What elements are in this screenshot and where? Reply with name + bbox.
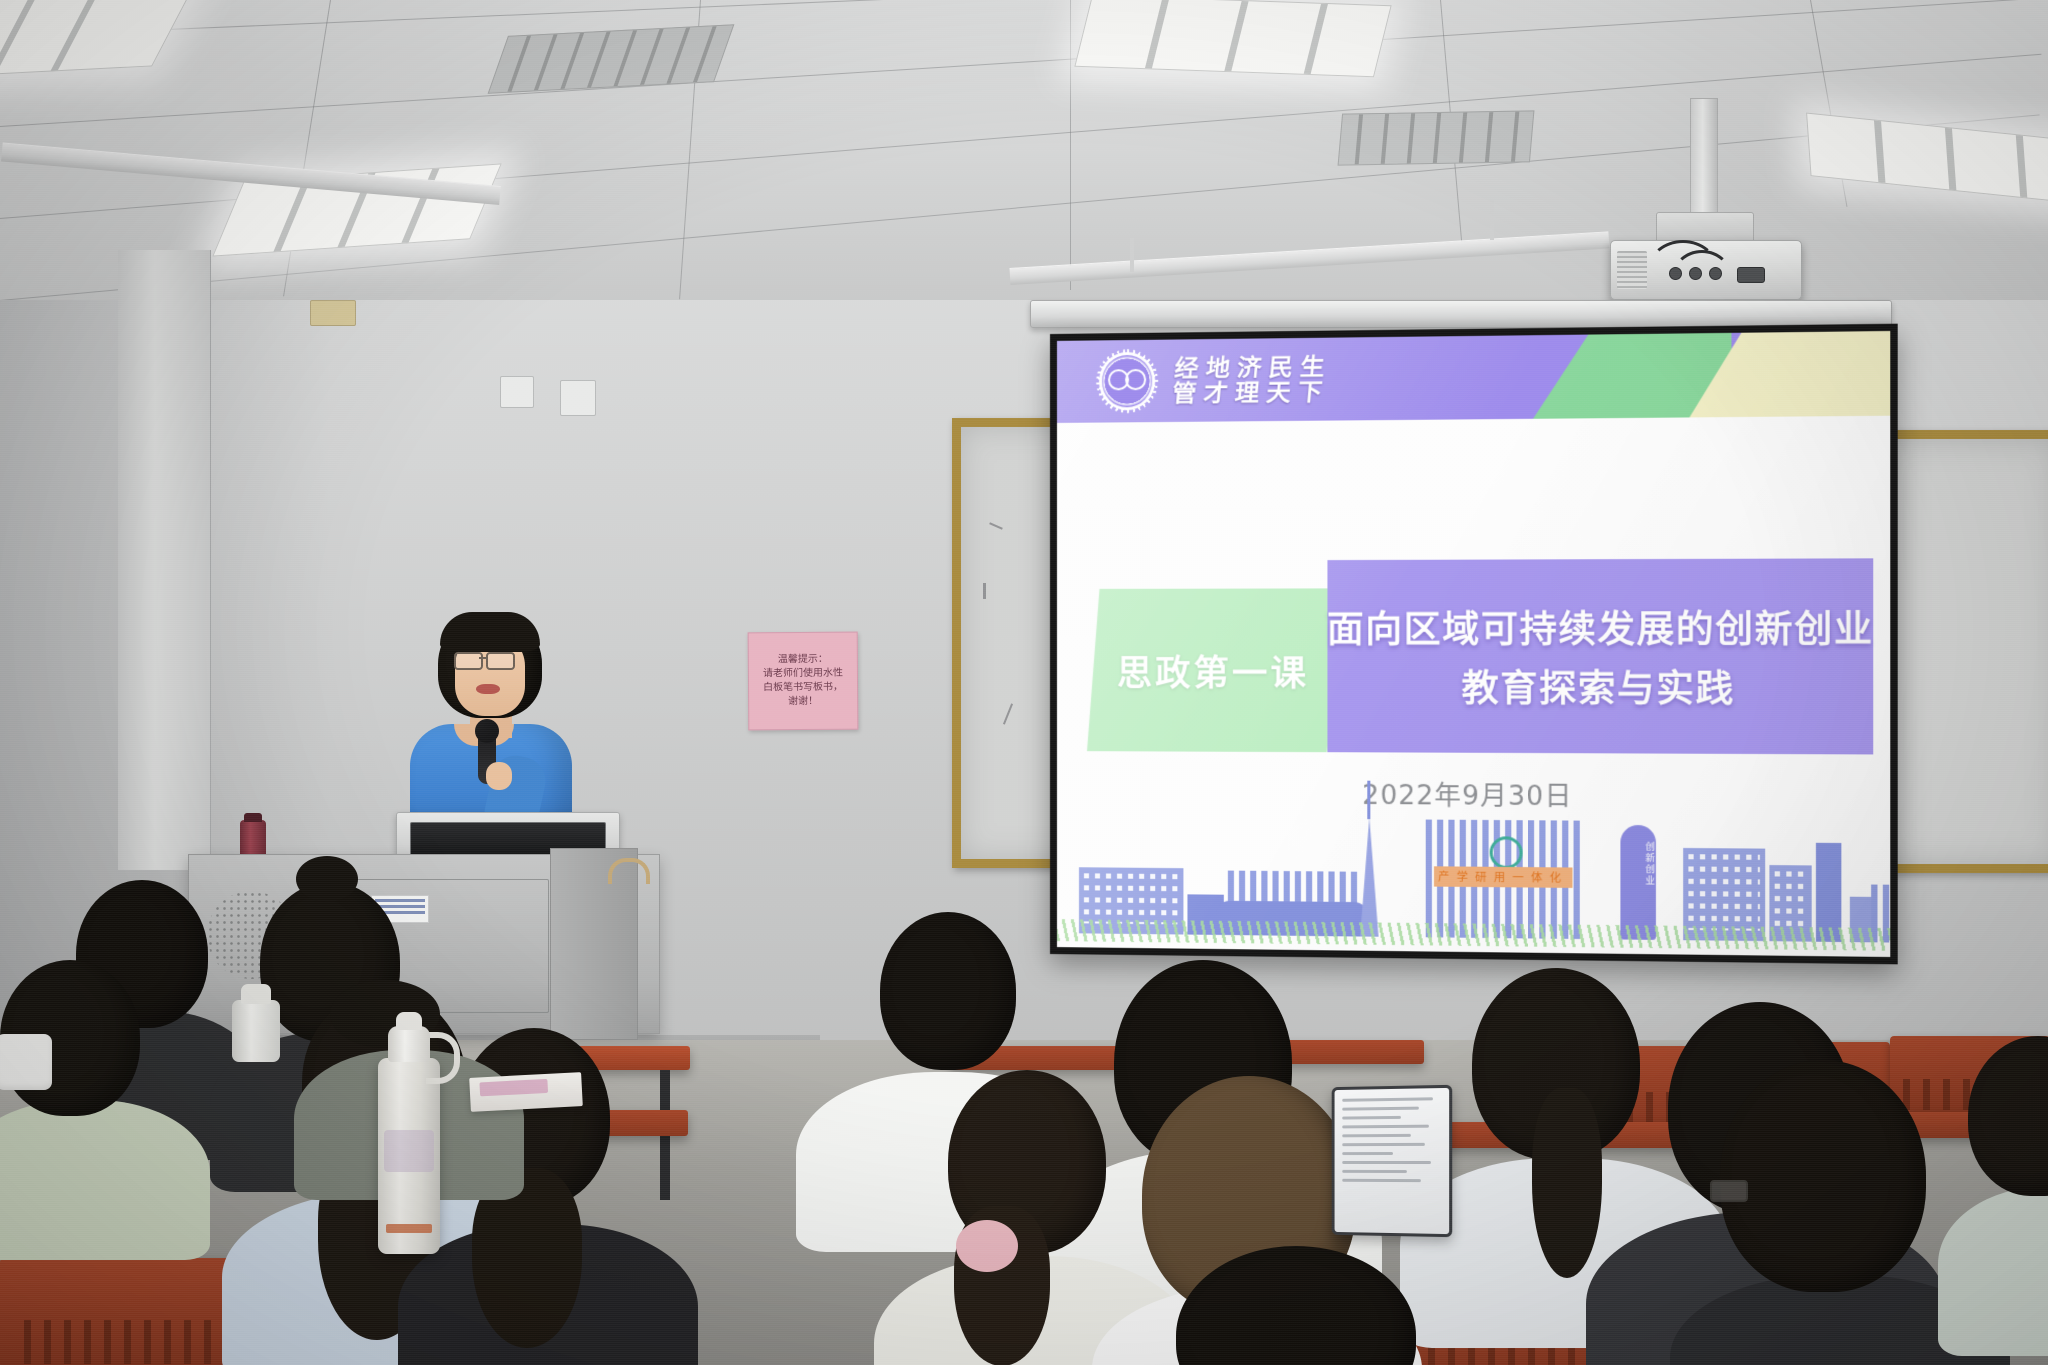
student-right-4 (1958, 1036, 2048, 1296)
city-grass-strip (1057, 919, 1890, 951)
student-ponytail (1532, 1088, 1602, 1278)
bottle-spout (396, 1012, 422, 1030)
lecture-hall-scene: 温馨提示： 请老师们使用水性 白板笔书写板书， 谢谢！ (0, 0, 2048, 1365)
presenter-hair-fringe (440, 612, 540, 652)
city-signboard: 产学研用一体化 (1434, 866, 1573, 888)
bottle-decal (384, 1130, 434, 1172)
presenter-speaker (400, 612, 580, 834)
slide-tag-text: 思政第一课 (1117, 645, 1309, 697)
slide-title-line-1: 面向区域可持续发展的创新创业 (1327, 600, 1874, 654)
ceiling-hanger-wire (1130, 238, 1134, 272)
ceiling-air-vent (1338, 110, 1535, 165)
city-spire-tower (1360, 817, 1378, 937)
wall-pillar (118, 250, 211, 870)
projection-screen: 经地济民生 管才理天下 思政第一课 面向区域可持续发展的创新创业 教育探索与实践… (1050, 324, 1898, 965)
slide-motto: 经地济民生 管才理天下 (1171, 353, 1333, 406)
wall-outlet (500, 376, 534, 408)
slide-title-line-2: 教育探索与实践 (1461, 659, 1734, 713)
city-banner-text: 创新创业 (1620, 841, 1656, 886)
slide-cityscape-illustration: 产学研用一体化 创新创业 (1057, 781, 1890, 951)
motto-line-2: 管才理天下 (1171, 379, 1330, 406)
white-cup (232, 1000, 280, 1062)
whiteboard-right (1872, 430, 2048, 873)
wall-outlet (560, 380, 596, 416)
student-center-3 (930, 1070, 1140, 1365)
projector-cable (1672, 250, 1732, 304)
hair-scrunchie (956, 1220, 1018, 1272)
student-left-2 (0, 960, 170, 1210)
student-right-3 (1700, 1060, 1960, 1365)
city-signboard-text: 产学研用一体化 (1434, 866, 1573, 888)
slide-title-block: 面向区域可持续发展的创新创业 教育探索与实践 (1327, 558, 1873, 754)
bottle-lid (388, 1026, 430, 1062)
notice-line-4: 谢谢！ (788, 696, 818, 708)
presenter-glasses-bridge (479, 657, 488, 659)
wall-outlet (310, 300, 356, 326)
notice-line-2: 请老师们使用水性 (763, 668, 843, 681)
open-laptop-document[interactable] (1332, 1085, 1453, 1237)
projector-mount-pole (1690, 98, 1718, 218)
student-head (1176, 1246, 1416, 1365)
podium-handle[interactable] (608, 858, 650, 884)
student-head (1720, 1060, 1926, 1292)
notice-line-1: 温馨提示： (778, 654, 828, 666)
student-right-5 (1176, 1246, 1426, 1365)
student-glasses (1710, 1180, 1748, 1202)
face-mask (0, 1034, 52, 1090)
presenter-hand (486, 762, 512, 790)
projector-vent (1617, 251, 1647, 289)
ceiling-light-panel (1074, 0, 1391, 77)
city-globe-emblem (1490, 836, 1523, 869)
city-spire-tip (1367, 781, 1370, 819)
bottle-band (386, 1224, 432, 1233)
presenter-mouth (476, 684, 500, 694)
presentation-slide: 经地济民生 管才理天下 思政第一课 面向区域可持续发展的创新创业 教育探索与实践… (1057, 331, 1890, 957)
student-torso (0, 1100, 210, 1260)
student-head (1968, 1036, 2048, 1196)
projection-screen-housing (1030, 300, 1892, 328)
student-hair-bun (296, 856, 358, 902)
white-thermos-bottle (378, 1058, 440, 1254)
ceiling-hanger-wire (1490, 200, 1494, 240)
wall-notice-sign: 温馨提示： 请老师们使用水性 白板笔书写板书， 谢谢！ (748, 632, 859, 731)
slide-header-band: 经地济民生 管才理天下 (1057, 331, 1890, 423)
papers-on-desk (469, 1072, 583, 1112)
presenter-glasses (454, 652, 483, 670)
notice-line-3: 白板笔书写板书， (763, 682, 843, 695)
university-crest-logo (1099, 352, 1155, 411)
student-head (880, 912, 1016, 1070)
presenter-glasses (486, 652, 515, 670)
slide-tag-block: 思政第一课 (1087, 588, 1340, 752)
city-vertical-banner: 创新创业 (1620, 825, 1656, 940)
